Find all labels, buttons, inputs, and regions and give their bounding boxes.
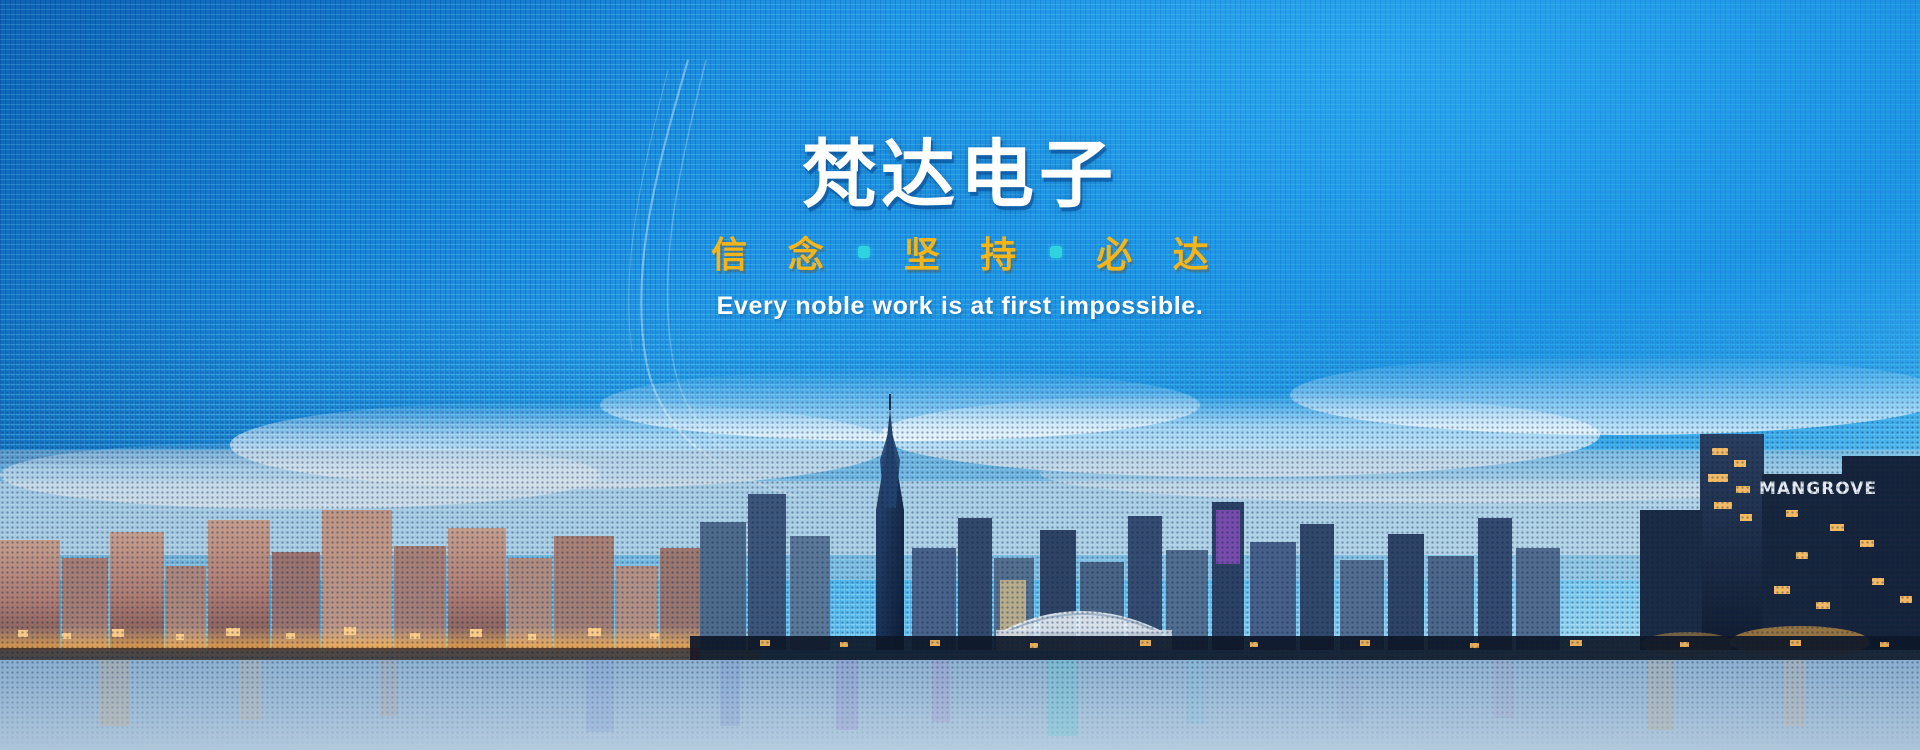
slogan-word-1: 信 念 <box>697 226 838 278</box>
banner-text-block: 梵达电子 信 念 坚 持 必 达 Every noble work is at … <box>0 138 1920 321</box>
page-title: 梵达电子 <box>0 138 1920 212</box>
english-tagline: Every noble work is at first impossible. <box>0 292 1920 321</box>
hero-banner: MANGROVE <box>0 0 1920 750</box>
slogan-dot-separator-1 <box>858 246 870 258</box>
slogan-word-2: 坚 持 <box>890 226 1031 278</box>
slogan-word-3: 必 达 <box>1082 226 1223 278</box>
slogan-row: 信 念 坚 持 必 达 <box>0 226 1920 278</box>
slogan-dot-separator-2 <box>1050 246 1062 258</box>
grid-mesh-texture <box>0 0 1920 750</box>
